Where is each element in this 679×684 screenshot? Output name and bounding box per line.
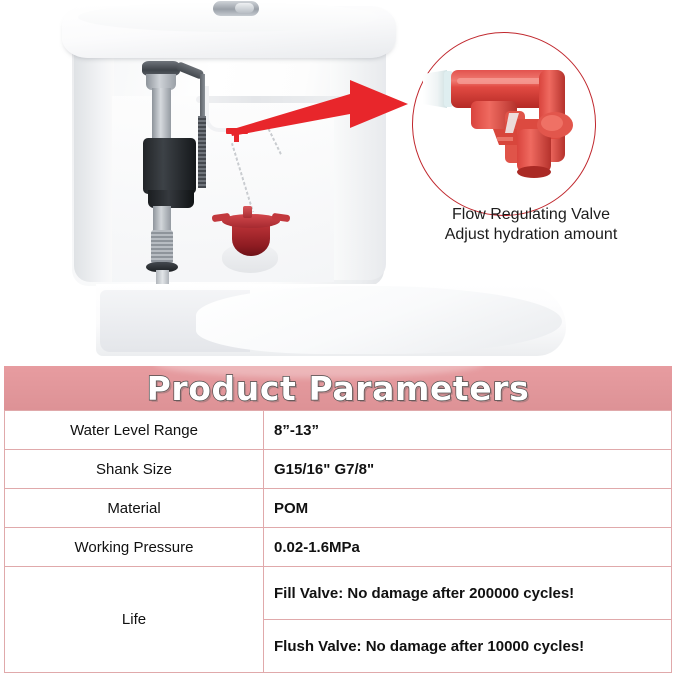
param-label: Water Level Range [5, 411, 264, 450]
tank-inner-wall-right [330, 30, 386, 280]
flow-regulating-valve-callout [412, 32, 596, 216]
product-photo: Flow Regulating Valve Adjust hydration a… [0, 0, 679, 362]
param-label: Working Pressure [5, 528, 264, 567]
param-value: POM [264, 489, 672, 528]
callout-caption: Flow Regulating Valve Adjust hydration a… [396, 205, 666, 245]
fill-valve-upper-shaft [152, 88, 171, 140]
toilet-seat-lid [196, 286, 562, 354]
table-row-life-fill: Life Fill Valve: No damage after 200000 … [5, 567, 672, 620]
callout-caption-line-2: Adjust hydration amount [396, 225, 666, 245]
param-value-flush-valve-life: Flush Valve: No damage after 10000 cycle… [264, 620, 672, 673]
callout-caption-line-1: Flow Regulating Valve [396, 205, 666, 225]
red-pointer-arrow-icon [230, 78, 410, 140]
fill-valve-float-rod [200, 74, 205, 118]
flush-valve-post [243, 206, 252, 218]
page-title: Product Parameters [4, 369, 672, 408]
fill-valve-ribbed-shank [151, 230, 173, 264]
table-row: Shank Size G15/16" G7/8" [5, 450, 672, 489]
flow-regulating-valve-icon [413, 33, 595, 215]
fill-valve-refill-hose [205, 86, 233, 132]
table-row: Water Level Range 8”-13” [5, 411, 672, 450]
param-value: 0.02-1.6MPa [264, 528, 672, 567]
param-value: G15/16" G7/8" [264, 450, 672, 489]
fill-valve-threaded-rod [198, 116, 206, 188]
param-value-fill-valve-life: Fill Valve: No damage after 200000 cycle… [264, 567, 672, 620]
fill-valve-float-cup [143, 138, 196, 194]
flush-button-icon [213, 1, 259, 16]
product-parameters-section: Product Parameters Water Level Range 8”-… [4, 366, 672, 673]
table-row: Working Pressure 0.02-1.6MPa [5, 528, 672, 567]
parameters-table: Water Level Range 8”-13” Shank Size G15/… [4, 410, 672, 673]
param-label-life: Life [5, 567, 264, 673]
param-value: 8”-13” [264, 411, 672, 450]
param-label: Shank Size [5, 450, 264, 489]
fill-valve-lower-shaft [153, 206, 171, 232]
tank-inner-wall-left [74, 30, 114, 282]
table-row: Material POM [5, 489, 672, 528]
param-label: Material [5, 489, 264, 528]
parameters-header-band: Product Parameters [4, 366, 672, 410]
